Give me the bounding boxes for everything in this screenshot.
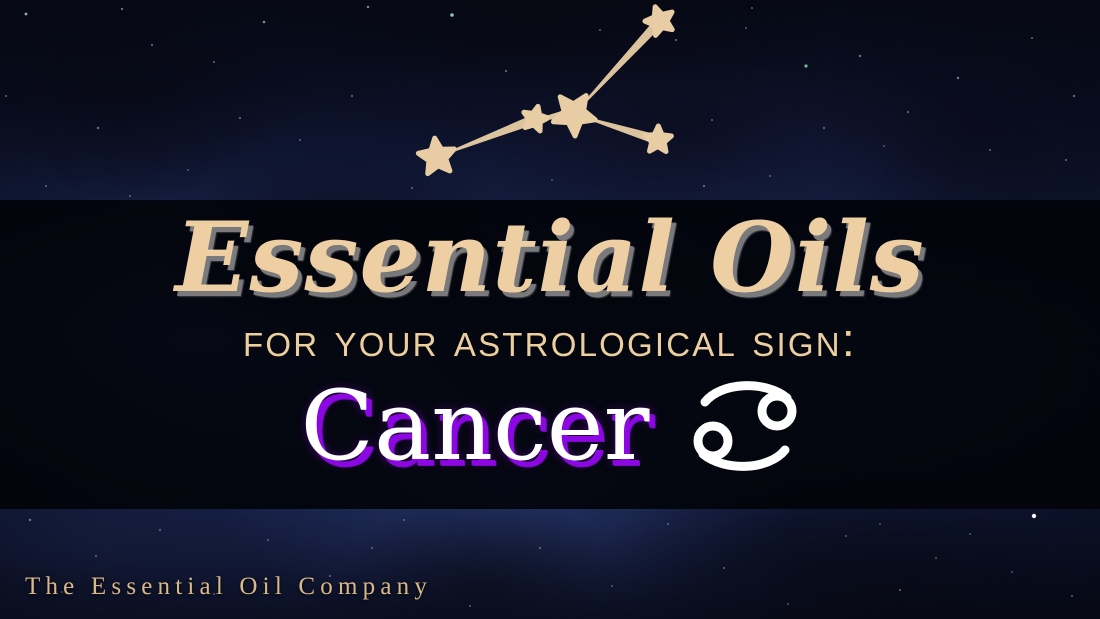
line-lowerleft-to-small <box>446 117 530 154</box>
background-star <box>723 567 725 569</box>
title-block: Essential Oils For Your Astrological Sig… <box>0 200 1100 509</box>
poster-canvas: Essential Oils For Your Astrological Sig… <box>0 0 1100 619</box>
background-star <box>159 529 161 531</box>
background-star <box>1071 595 1073 597</box>
background-star <box>539 547 541 549</box>
background-star <box>267 539 269 541</box>
background-star <box>845 535 847 537</box>
zodiac-sign-row: Cancer <box>0 378 1100 474</box>
background-star <box>95 555 97 557</box>
background-star <box>667 523 669 525</box>
star-altarf-center-large <box>553 96 595 136</box>
star-delta-cancri-right <box>645 126 672 152</box>
background-star <box>403 519 405 521</box>
background-star <box>879 523 881 525</box>
cancer-constellation <box>0 0 1100 200</box>
zodiac-sign-name: Cancer <box>301 378 650 474</box>
star-acubens-lower-left <box>418 138 454 173</box>
background-star <box>1011 571 1013 573</box>
background-star <box>787 603 789 605</box>
background-star <box>899 589 901 591</box>
background-star <box>611 585 613 587</box>
star-asellus-australis-small <box>524 106 548 131</box>
headline-essential-oils: Essential Oils <box>0 204 1100 312</box>
line-center-to-upperright <box>581 24 657 106</box>
company-name-footer: The Essential Oil Company <box>25 573 432 601</box>
subtitle-for-your-astrological-sign: For Your Astrological Sign: <box>0 312 1100 367</box>
cancer-zodiac-icon <box>691 378 799 474</box>
background-star <box>469 605 471 607</box>
background-star <box>29 519 31 521</box>
background-star <box>1032 514 1036 518</box>
background-star <box>969 533 971 535</box>
background-star <box>371 547 373 549</box>
background-star <box>935 557 937 559</box>
